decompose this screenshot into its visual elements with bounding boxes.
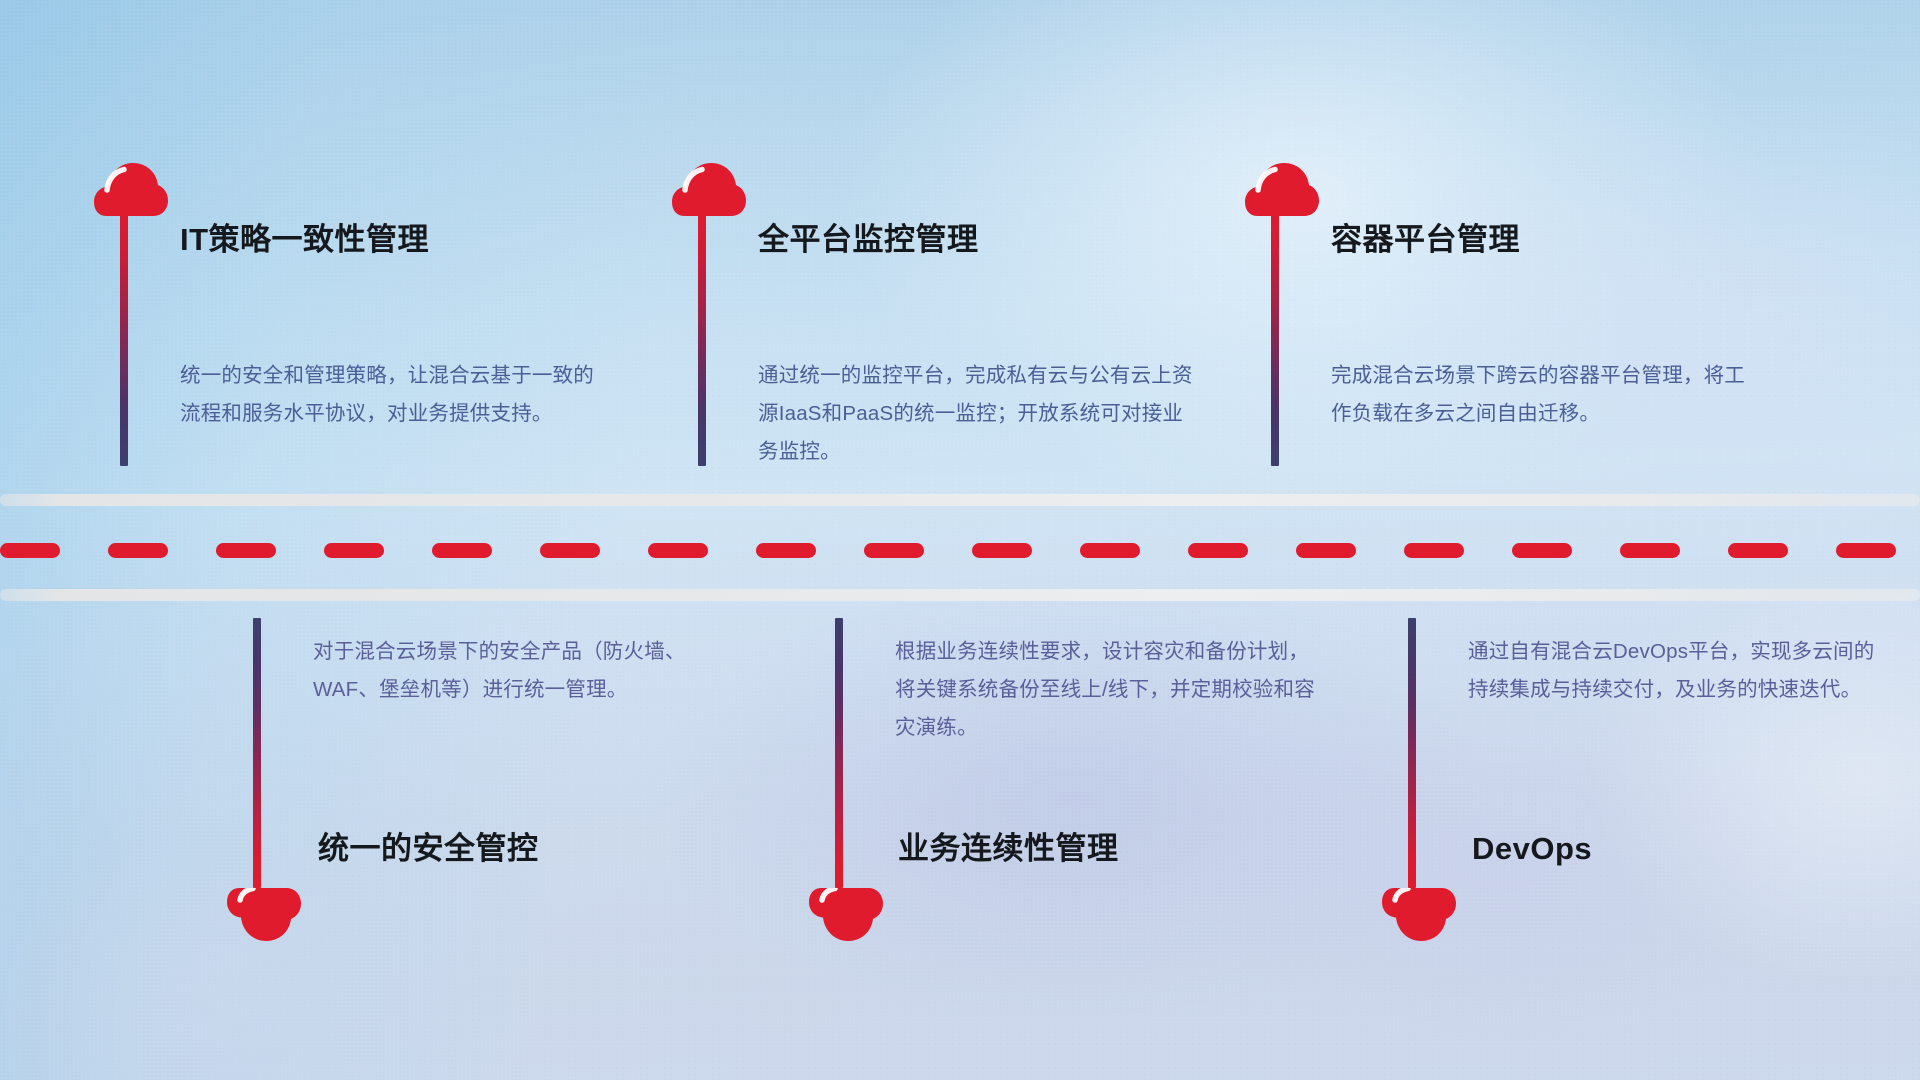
road-dash (1296, 543, 1356, 558)
road-dash (1188, 543, 1248, 558)
road-line-upper (0, 494, 1920, 506)
road-dash (0, 543, 60, 558)
bottom-item-1-heading: 统一的安全管控 (318, 833, 539, 864)
cloud-icon (1382, 888, 1456, 944)
cloud-icon (94, 160, 168, 216)
top-item-3-description: 完成混合云场景下跨云的容器平台管理，将工作负载在多云之间自由迁移。 (1331, 357, 1751, 433)
road-dash (1728, 543, 1788, 558)
bottom-item-2-description: 根据业务连续性要求，设计容灾和备份计划，将关键系统备份至线上/线下，并定期校验和… (895, 633, 1320, 747)
bottom-item-3-description: 通过自有混合云DevOps平台，实现多云间的持续集成与持续交付，及业务的快速迭代… (1468, 633, 1888, 709)
road-dash (324, 543, 384, 558)
stem-connector (253, 618, 261, 888)
road-dash (972, 543, 1032, 558)
road-dash (108, 543, 168, 558)
road-dash (1836, 543, 1896, 558)
top-item-1-description: 统一的安全和管理策略，让混合云基于一致的流程和服务水平协议，对业务提供支持。 (180, 357, 605, 433)
stem-connector (120, 208, 128, 466)
cloud-icon (227, 888, 301, 944)
road-dash (216, 543, 276, 558)
stem-connector (1271, 208, 1279, 466)
road-dash (1620, 543, 1680, 558)
road-dash (756, 543, 816, 558)
top-item-3-heading: 容器平台管理 (1331, 224, 1520, 255)
road-center-dashes (0, 543, 1920, 558)
cloud-icon (809, 888, 883, 944)
road-dash (1404, 543, 1464, 558)
stem-connector (1408, 618, 1416, 888)
cloud-icon (1245, 160, 1319, 216)
bottom-item-2-heading: 业务连续性管理 (898, 833, 1119, 864)
stem-connector (835, 618, 843, 888)
road-dash (648, 543, 708, 558)
road-dash (540, 543, 600, 558)
road-line-lower (0, 589, 1920, 601)
infographic-canvas: IT策略一致性管理 统一的安全和管理策略，让混合云基于一致的流程和服务水平协议，… (0, 0, 1920, 1080)
road-dash (1080, 543, 1140, 558)
bottom-item-1-description: 对于混合云场景下的安全产品（防火墙、WAF、堡垒机等）进行统一管理。 (313, 633, 738, 709)
road-dash (432, 543, 492, 558)
bottom-item-3-heading: DevOps (1472, 833, 1592, 864)
road-dash (864, 543, 924, 558)
road-dash (1512, 543, 1572, 558)
top-item-2-heading: 全平台监控管理 (758, 224, 979, 255)
top-item-2-description: 通过统一的监控平台，完成私有云与公有云上资源IaaS和PaaS的统一监控；开放系… (758, 357, 1193, 471)
cloud-icon (672, 160, 746, 216)
stem-connector (698, 208, 706, 466)
top-item-1-heading: IT策略一致性管理 (180, 224, 429, 255)
